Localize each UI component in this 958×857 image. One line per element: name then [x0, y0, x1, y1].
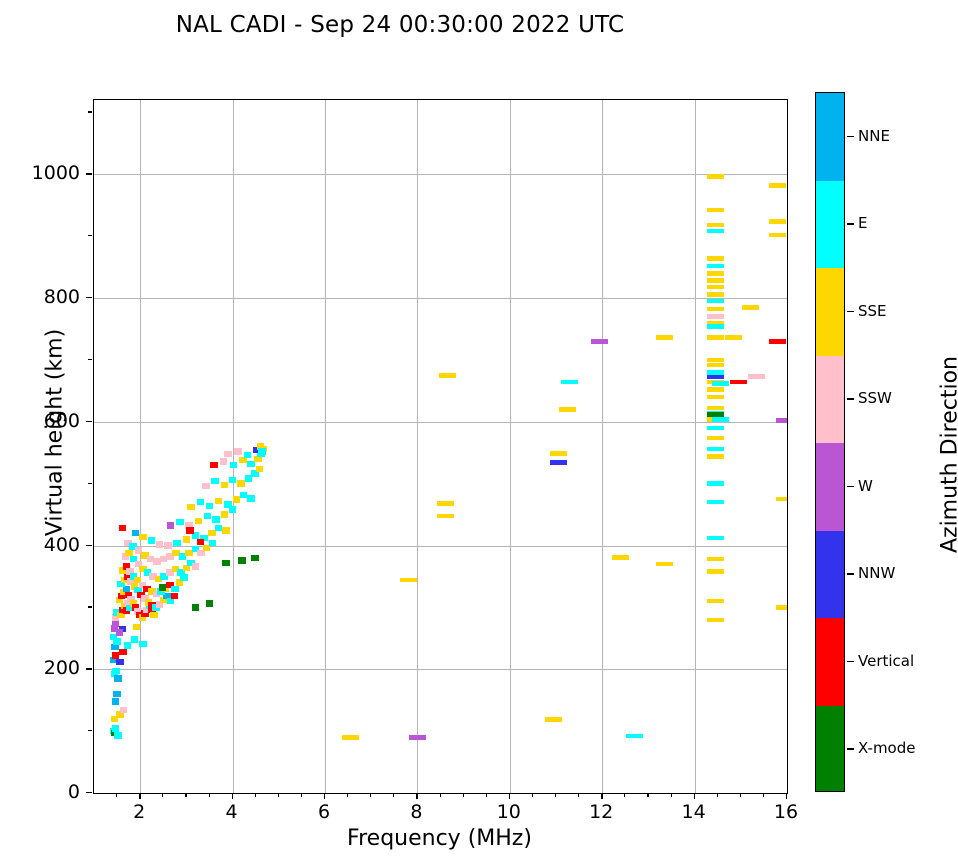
colorbar-tick — [847, 661, 854, 662]
echo-mark — [725, 335, 742, 340]
echo-mark — [742, 305, 759, 310]
echo-mark — [707, 500, 724, 505]
echo-mark — [251, 555, 259, 562]
colorbar-tick — [847, 311, 854, 312]
x-tick-label: 2 — [109, 801, 169, 823]
echo-mark — [776, 605, 787, 610]
echo-mark — [247, 495, 255, 502]
colorbar-band-vertical — [816, 618, 844, 706]
plot-canvas — [94, 100, 787, 793]
echo-mark — [119, 525, 127, 532]
echo-mark — [707, 395, 724, 400]
echo-mark — [112, 725, 120, 732]
x-tick-major — [139, 793, 140, 799]
echo-mark — [707, 375, 724, 380]
echo-mark — [707, 256, 724, 261]
colorbar-band-sse — [816, 268, 844, 356]
echo-mark — [707, 406, 724, 411]
colorbar-band-ssw — [816, 356, 844, 444]
echo-mark — [437, 514, 454, 519]
echo-mark — [220, 458, 228, 465]
echo-mark — [707, 557, 724, 562]
x-tick-minor — [578, 793, 579, 797]
echo-mark — [197, 539, 205, 546]
echo-mark — [210, 462, 218, 469]
x-tick-minor — [555, 793, 556, 797]
x-tick-label: 8 — [386, 801, 446, 823]
x-tick-minor — [347, 793, 348, 797]
echo-mark — [591, 339, 608, 344]
colorbar-tick — [847, 398, 854, 399]
gridline-vertical — [233, 100, 234, 793]
x-axis-label: Frequency (MHz) — [93, 826, 786, 851]
echo-mark — [206, 503, 214, 510]
echo-mark — [400, 578, 417, 583]
echo-mark — [187, 504, 195, 511]
echo-mark — [224, 451, 232, 458]
x-tick-label: 16 — [756, 801, 816, 823]
echo-mark — [707, 481, 724, 486]
x-tick-minor — [301, 793, 302, 797]
echo-mark — [114, 675, 122, 682]
echo-mark — [244, 452, 252, 459]
echo-mark — [707, 324, 724, 329]
x-tick-minor — [440, 793, 441, 797]
page-title: NAL CADI - Sep 24 00:30:00 2022 UTC — [0, 12, 800, 38]
colorbar-tick — [847, 136, 854, 137]
echo-mark — [545, 717, 562, 722]
echo-mark — [707, 223, 724, 228]
echo-mark — [132, 530, 140, 537]
gridline-vertical — [417, 100, 418, 793]
echo-mark — [707, 370, 724, 375]
echo-mark — [215, 525, 223, 532]
echo-mark — [215, 498, 223, 505]
x-tick-minor — [255, 793, 256, 797]
echo-mark — [550, 460, 567, 465]
colorbar-band-nnw — [816, 531, 844, 619]
echo-mark — [707, 387, 724, 392]
echo-mark — [561, 380, 578, 385]
colorbar-band-e — [816, 181, 844, 269]
echo-mark — [707, 264, 724, 269]
echo-mark — [656, 562, 673, 567]
echo-mark — [171, 593, 179, 600]
x-tick-minor — [370, 793, 371, 797]
echo-mark — [197, 499, 205, 506]
echo-mark — [707, 229, 724, 234]
x-tick-label: 14 — [664, 801, 724, 823]
echo-mark — [183, 536, 191, 543]
echo-mark — [707, 335, 724, 340]
echo-mark — [212, 516, 220, 523]
colorbar-label-ssw: SSW — [858, 389, 892, 407]
echo-mark — [612, 555, 629, 560]
echo-mark — [139, 534, 147, 541]
gridline-horizontal — [94, 174, 787, 175]
y-tick-minor — [88, 111, 92, 112]
x-tick-minor — [486, 793, 487, 797]
echo-mark — [256, 466, 264, 473]
x-tick-minor — [278, 793, 279, 797]
echo-mark — [559, 407, 576, 412]
colorbar-band-x-mode — [816, 706, 844, 793]
echo-mark — [202, 483, 210, 490]
colorbar-label-e: E — [858, 214, 867, 232]
echo-mark — [748, 374, 765, 379]
gridline-vertical — [325, 100, 326, 793]
colorbar-label-sse: SSE — [858, 302, 887, 320]
x-tick-minor — [463, 793, 464, 797]
echo-mark — [626, 734, 643, 739]
y-tick-major — [86, 297, 92, 298]
echo-mark — [707, 599, 724, 604]
echo-mark — [707, 363, 724, 368]
echo-mark — [230, 462, 238, 469]
echo-mark — [148, 537, 156, 544]
x-tick-minor — [763, 793, 764, 797]
x-tick-minor — [740, 793, 741, 797]
echo-mark — [707, 358, 724, 363]
echo-mark — [150, 612, 158, 619]
echo-mark — [192, 604, 200, 611]
echo-mark — [707, 618, 724, 623]
y-tick-major — [86, 421, 92, 422]
echo-mark — [133, 624, 141, 631]
y-tick-major — [86, 545, 92, 546]
echo-mark — [409, 735, 426, 740]
echo-mark — [237, 480, 245, 487]
echo-mark — [707, 299, 724, 304]
echo-mark — [222, 527, 230, 534]
y-axis-label: Virtual height (km) — [43, 103, 68, 763]
echo-mark — [211, 478, 219, 485]
echo-mark — [437, 501, 454, 506]
x-tick-label: 12 — [571, 801, 631, 823]
x-tick-minor — [671, 793, 672, 797]
echo-mark — [707, 536, 724, 541]
y-tick-minor — [88, 235, 92, 236]
echo-mark — [124, 642, 132, 649]
echo-mark — [206, 600, 214, 607]
x-tick-major — [509, 793, 510, 799]
echo-mark — [707, 278, 724, 283]
x-tick-minor — [116, 793, 117, 797]
y-tick-major — [86, 792, 92, 793]
echo-mark — [439, 373, 456, 378]
echo-mark — [112, 668, 120, 675]
y-tick-minor — [88, 483, 92, 484]
echo-mark — [222, 560, 230, 567]
echo-mark — [707, 314, 724, 319]
echo-mark — [229, 477, 237, 484]
plot-area — [93, 99, 788, 794]
echo-mark — [769, 183, 786, 188]
x-tick-minor — [647, 793, 648, 797]
echo-mark — [707, 412, 724, 417]
echo-mark — [113, 691, 121, 698]
x-tick-major — [416, 793, 417, 799]
echo-mark — [131, 636, 139, 643]
echo-mark — [209, 540, 217, 547]
x-tick-minor — [209, 793, 210, 797]
echo-mark — [707, 569, 724, 574]
colorbar-tick — [847, 748, 854, 749]
colorbar-label-w: W — [858, 477, 873, 495]
x-tick-major — [232, 793, 233, 799]
x-tick-label: 4 — [202, 801, 262, 823]
x-tick-major — [694, 793, 695, 799]
colorbar-label-nnw: NNW — [858, 564, 895, 582]
echo-mark — [550, 451, 567, 456]
echo-mark — [769, 339, 786, 344]
ionogram-figure: NAL CADI - Sep 24 00:30:00 2022 UTC 2468… — [0, 0, 958, 857]
x-tick-major — [786, 793, 787, 799]
y-tick-minor — [88, 606, 92, 607]
x-tick-label: 10 — [479, 801, 539, 823]
gridline-vertical — [510, 100, 511, 793]
echo-mark — [342, 735, 359, 740]
echo-mark — [707, 447, 724, 452]
echo-mark — [712, 381, 729, 386]
colorbar-tick — [847, 573, 854, 574]
y-tick-minor — [88, 359, 92, 360]
echo-mark — [173, 540, 181, 547]
echo-mark — [707, 292, 724, 297]
echo-mark — [707, 208, 724, 213]
echo-mark — [112, 698, 120, 705]
echo-mark — [776, 418, 787, 423]
echo-mark — [258, 448, 266, 455]
echo-mark — [707, 174, 724, 179]
x-tick-minor — [717, 793, 718, 797]
colorbar-tick — [847, 486, 854, 487]
echo-mark — [776, 497, 787, 502]
azimuth-colorbar — [815, 92, 845, 792]
echo-mark — [119, 649, 127, 656]
echo-mark — [159, 584, 167, 591]
x-tick-minor — [162, 793, 163, 797]
y-tick-major — [86, 668, 92, 669]
colorbar-label-vertical: Vertical — [858, 652, 914, 670]
echo-mark — [204, 513, 212, 520]
x-tick-minor — [624, 793, 625, 797]
echo-mark — [176, 519, 184, 526]
echo-mark — [707, 285, 724, 290]
x-tick-major — [324, 793, 325, 799]
echo-mark — [114, 732, 122, 739]
echo-mark — [707, 436, 724, 441]
echo-mark — [156, 541, 164, 548]
colorbar-band-nne — [816, 93, 844, 181]
y-tick-major — [86, 173, 92, 174]
x-tick-major — [601, 793, 602, 799]
y-tick-label: 0 — [10, 781, 80, 803]
echo-mark — [707, 271, 724, 276]
echo-mark — [111, 644, 119, 651]
echo-mark — [240, 492, 248, 499]
echo-mark — [116, 659, 124, 666]
colorbar-title: Azimuth Direction — [938, 205, 958, 705]
x-tick-minor — [185, 793, 186, 797]
gridline-vertical — [140, 100, 141, 793]
echo-mark — [769, 233, 786, 238]
y-tick-minor — [88, 730, 92, 731]
echo-mark — [707, 307, 724, 312]
colorbar-label-x-mode: X-mode — [858, 739, 915, 757]
colorbar-band-w — [816, 443, 844, 531]
x-tick-minor — [393, 793, 394, 797]
echo-mark — [233, 496, 241, 503]
echo-mark — [192, 563, 200, 570]
echo-mark — [164, 542, 172, 549]
echo-mark — [224, 501, 232, 508]
gridline-horizontal — [94, 669, 787, 670]
echo-mark — [167, 522, 175, 529]
echo-mark — [707, 454, 724, 459]
echo-mark — [116, 629, 124, 636]
echo-mark — [221, 482, 229, 489]
echo-mark — [769, 219, 786, 224]
echo-mark — [120, 707, 128, 714]
echo-mark — [730, 380, 747, 385]
echo-mark — [707, 426, 724, 431]
colorbar-tick — [847, 223, 854, 224]
echo-mark — [656, 335, 673, 340]
gridline-vertical — [602, 100, 603, 793]
echo-mark — [234, 448, 242, 455]
echo-mark — [712, 417, 729, 422]
x-tick-label: 6 — [294, 801, 354, 823]
echo-mark — [171, 586, 179, 593]
echo-mark — [139, 641, 147, 648]
x-tick-minor — [532, 793, 533, 797]
echo-mark — [221, 511, 229, 518]
echo-mark — [186, 527, 194, 534]
gridline-vertical — [695, 100, 696, 793]
echo-mark — [238, 557, 246, 564]
colorbar-label-nne: NNE — [858, 127, 890, 145]
gridline-horizontal — [94, 422, 787, 423]
echo-mark — [195, 518, 203, 525]
gridline-horizontal — [94, 298, 787, 299]
